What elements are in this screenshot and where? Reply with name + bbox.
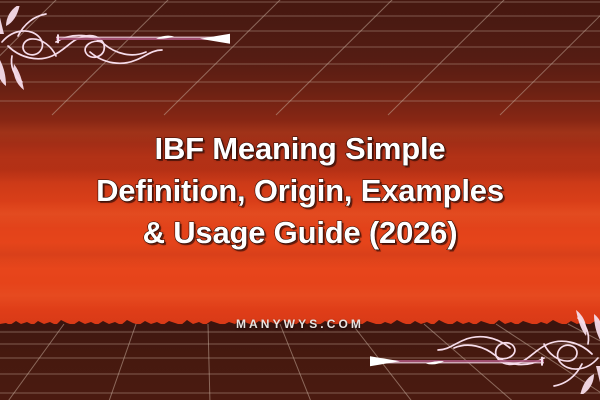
sunset-sky-gradient: [0, 0, 600, 324]
featured-image-canvas: IBF Meaning Simple Definition, Origin, E…: [0, 0, 600, 400]
ground-plane: [0, 324, 600, 400]
